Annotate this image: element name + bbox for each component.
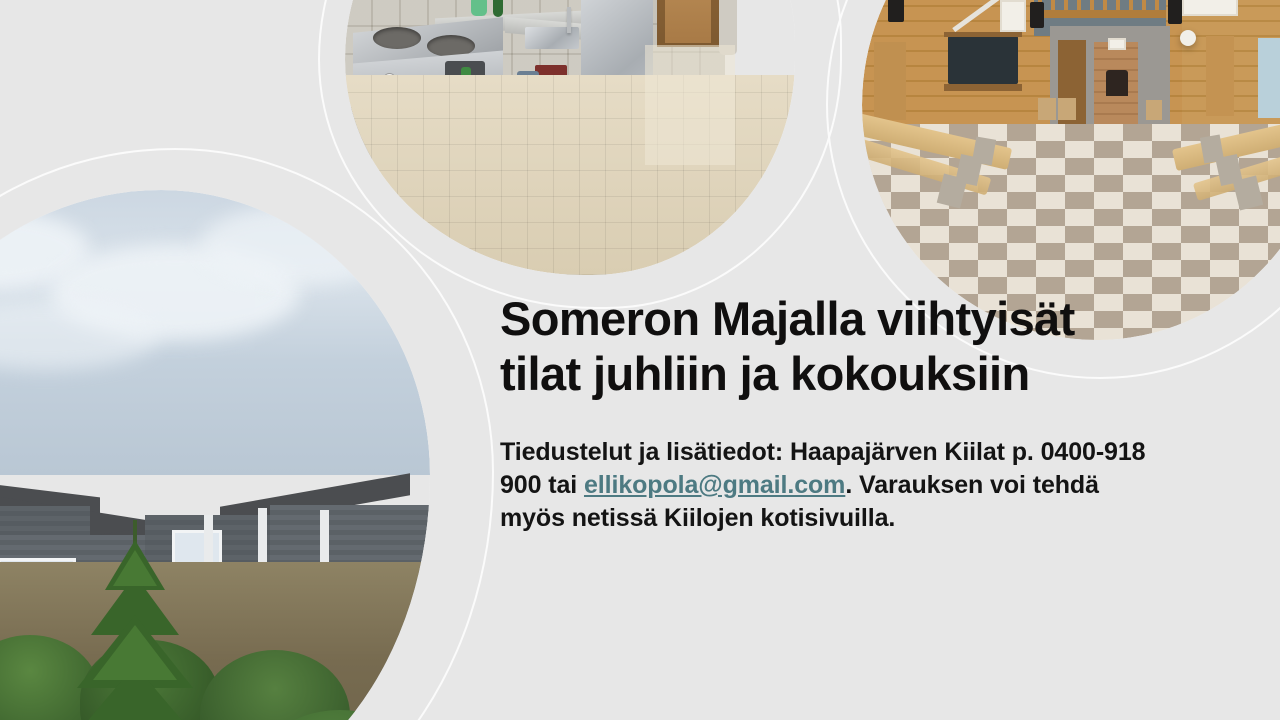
bottle bbox=[493, 0, 503, 17]
door-right-a bbox=[1206, 36, 1234, 116]
fireplace-opening bbox=[1106, 70, 1128, 96]
back-notice bbox=[1108, 38, 1126, 50]
railing-bottom-rail bbox=[1036, 10, 1166, 18]
floor-light bbox=[645, 45, 735, 165]
door-left bbox=[874, 42, 906, 120]
speaker-right bbox=[1168, 0, 1182, 24]
hatch-frame bbox=[944, 32, 1022, 37]
hob bbox=[373, 27, 421, 49]
spruce-tree bbox=[35, 520, 235, 720]
commercial-kitchen-image bbox=[345, 0, 795, 275]
chair-back bbox=[1146, 100, 1162, 120]
speaker-left bbox=[1030, 2, 1044, 28]
contact-paragraph: Tiedustelut ja lisätiedot: Haapajärven K… bbox=[500, 402, 1160, 536]
function-hall-image bbox=[862, 0, 1280, 340]
email-link[interactable]: ellikopola@gmail.com bbox=[584, 471, 845, 499]
chair-back bbox=[1058, 98, 1076, 120]
commercial-kitchen-photo bbox=[345, 0, 795, 275]
framed-portrait bbox=[1000, 0, 1026, 32]
chair-back bbox=[1038, 98, 1056, 120]
kitchen-hatch bbox=[948, 36, 1018, 84]
text-content-block: Someron Majalla viihtyisät tilat juhliin… bbox=[500, 292, 1160, 536]
poster-canvas: Someron Majalla viihtyisät tilat juhliin… bbox=[0, 0, 1280, 720]
spruce-svg bbox=[35, 520, 235, 720]
framed-landscape bbox=[1182, 0, 1238, 16]
hatch-sill bbox=[944, 84, 1022, 91]
function-hall-photo bbox=[862, 0, 1280, 340]
vase bbox=[471, 0, 487, 16]
tap bbox=[567, 7, 571, 33]
doorway-interior bbox=[665, 0, 711, 43]
speaker-wall bbox=[888, 0, 904, 22]
wall-clock bbox=[1180, 30, 1196, 46]
page-title: Someron Majalla viihtyisät tilat juhliin… bbox=[500, 292, 1160, 402]
door-right-b bbox=[1258, 38, 1280, 118]
